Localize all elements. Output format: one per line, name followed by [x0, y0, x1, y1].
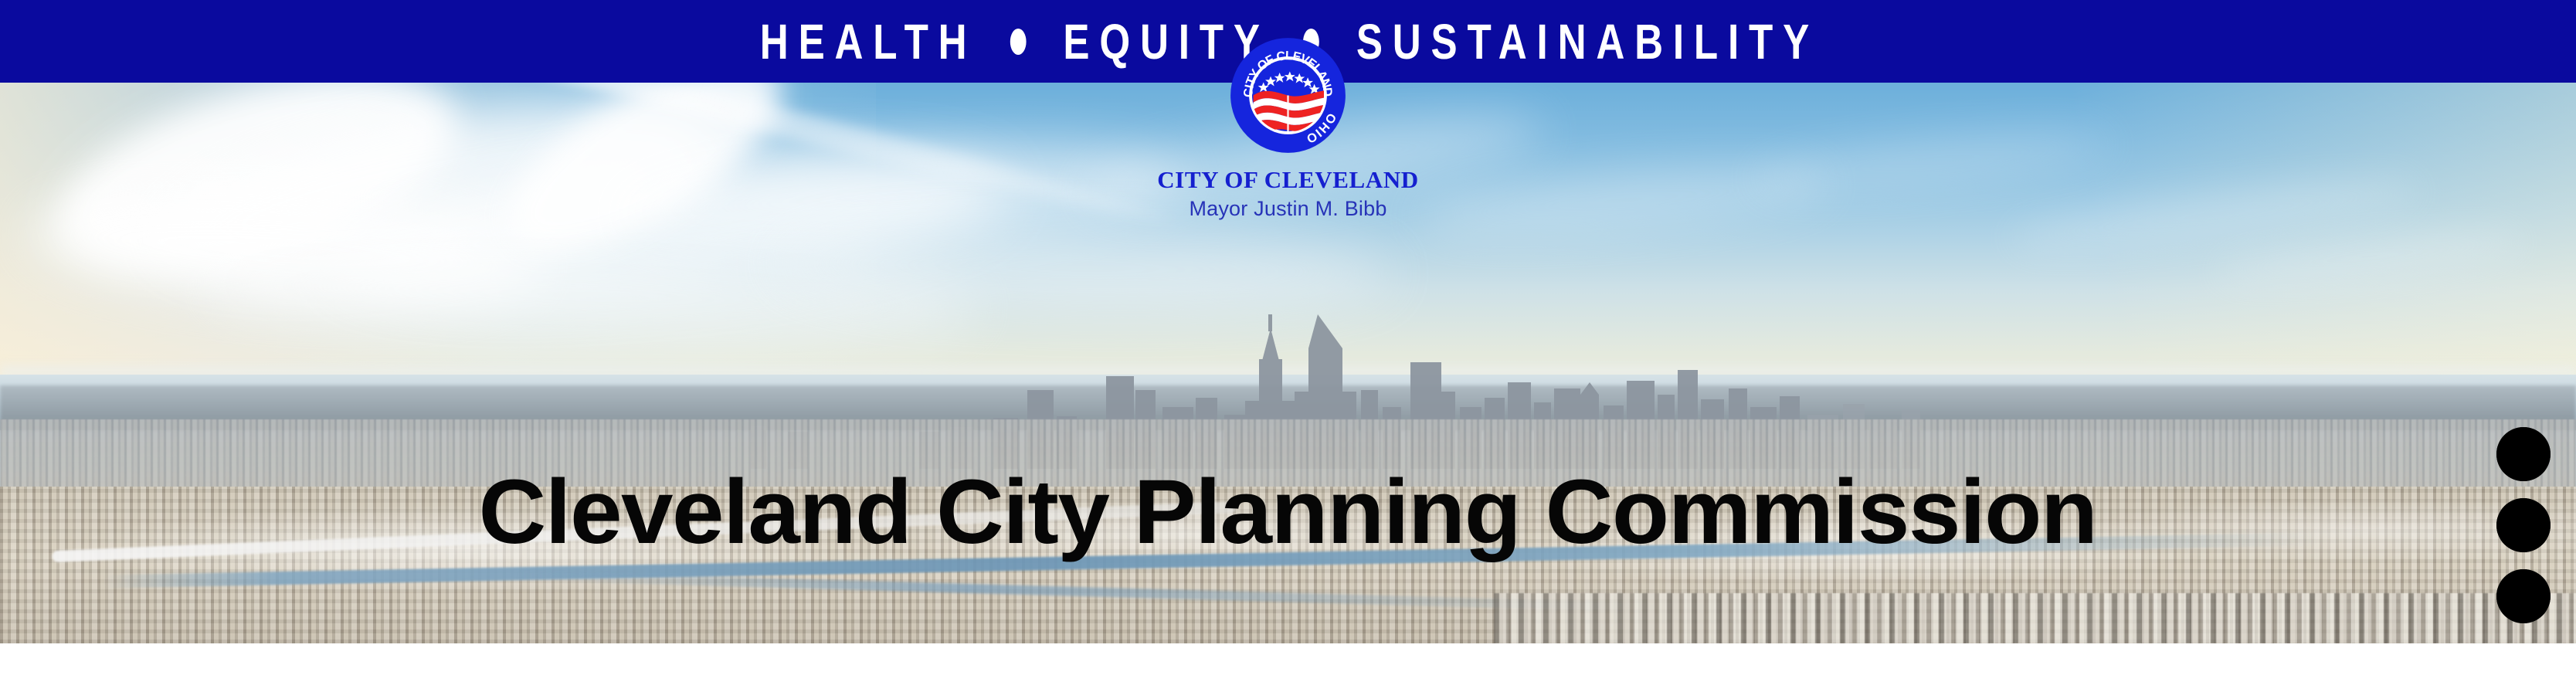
youtube-icon [2496, 427, 2551, 481]
facebook-link[interactable] [2496, 569, 2551, 623]
city-of-cleveland-seal: CITY OF CLEVELAND OHIO [1228, 36, 1348, 155]
youtube-link[interactable] [2496, 427, 2551, 481]
instagram-icon [2496, 498, 2551, 552]
city-brand-block: CITY OF CLEVELAND OHIO [1111, 36, 1466, 219]
brand-city-name: CITY OF CLEVELAND [1157, 168, 1419, 192]
tagline-word-health: HEALTH [756, 17, 976, 66]
bottom-white-strip [0, 643, 2576, 682]
facebook-icon [2496, 569, 2551, 623]
page-root: HEALTH EQUITY SUSTAINABILITY [0, 0, 2576, 682]
brand-mayor-name: Mayor Justin M. Bibb [1189, 198, 1386, 219]
instagram-link[interactable] [2496, 498, 2551, 552]
bullet-dot-icon [1010, 29, 1027, 55]
residential-rooftops [1494, 593, 2576, 643]
social-links-rail[interactable] [2496, 427, 2551, 623]
